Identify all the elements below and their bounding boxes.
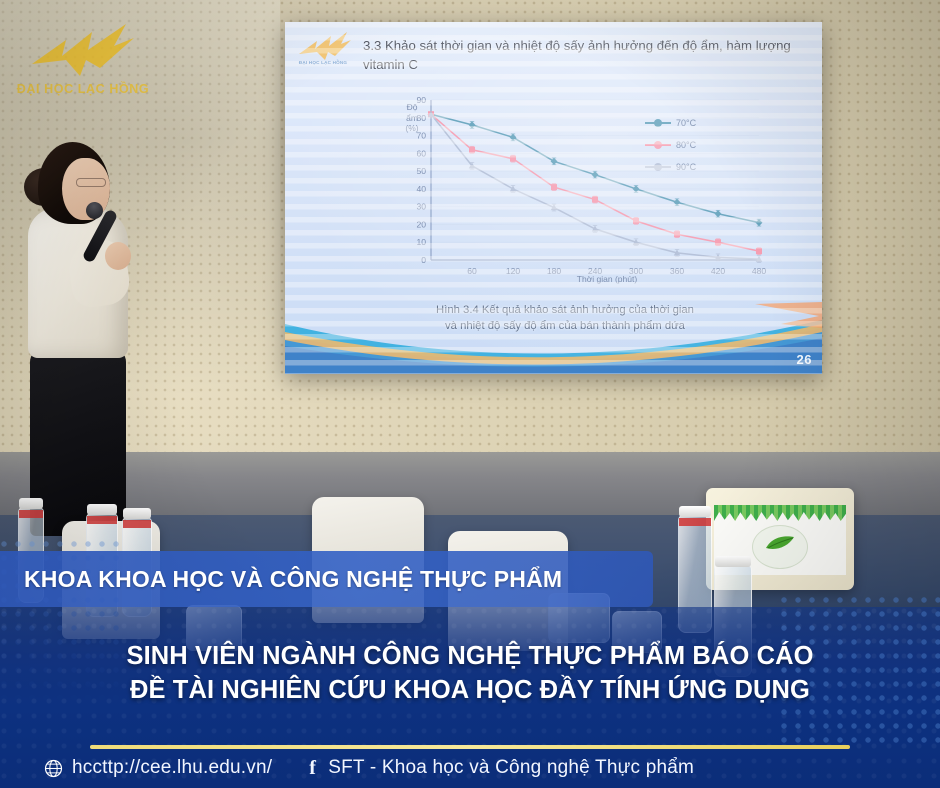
- svg-text:420: 420: [711, 266, 726, 276]
- svg-text:0: 0: [421, 255, 426, 265]
- footer-bar: hccttp://cee.lhu.edu.vn/ f SFT - Khoa họ…: [0, 748, 940, 788]
- slide-logo-text: ĐẠI HỌC LẠC HỒNG: [289, 60, 357, 65]
- headline-line-1: SINH VIÊN NGÀNH CÔNG NGHỆ THỰC PHẨM BÁO …: [0, 640, 940, 674]
- slide-title: 3.3 Khảo sát thời gian và nhiệt độ sấy ả…: [363, 36, 803, 74]
- headline: SINH VIÊN NGÀNH CÔNG NGHỆ THỰC PHẨM BÁO …: [0, 640, 940, 707]
- svg-text:40: 40: [416, 184, 426, 194]
- chart-x-axis-label: Thời gian (phút): [507, 274, 707, 284]
- presentation-screen: ĐẠI HỌC LẠC HỒNG 3.3 Khảo sát thời gian …: [285, 22, 822, 374]
- presenter-hand: [105, 242, 131, 270]
- legend-item: 80°C: [645, 134, 755, 156]
- kicker-banner: KHOA KHOA HỌC VÀ CÔNG NGHỆ THỰC PHẨM: [0, 551, 653, 607]
- svg-text:60: 60: [416, 148, 426, 158]
- bird-logo-icon: [22, 20, 142, 82]
- headline-line-2: ĐỀ TÀI NGHIÊN CỨU KHOA HỌC ĐẦY TÍNH ỨNG …: [0, 674, 940, 708]
- legend-label: 80°C: [676, 140, 696, 150]
- svg-text:30: 30: [416, 202, 426, 212]
- chart-legend: 70°C 80°C 90°C: [645, 112, 755, 178]
- slide-wave-footer: 26: [285, 302, 822, 374]
- svg-text:50: 50: [416, 166, 426, 176]
- svg-text:20: 20: [416, 219, 426, 229]
- svg-text:90: 90: [416, 95, 426, 105]
- legend-swatch-70: [645, 122, 671, 124]
- legend-swatch-90: [645, 166, 671, 168]
- svg-text:480: 480: [752, 266, 767, 276]
- slide-bird-logo-icon: [295, 30, 351, 62]
- facebook-icon: f: [306, 757, 319, 780]
- screenshot-root: ĐẠI HỌC LẠC HỒNG ĐẠI HỌC LẠC HỒNG 3.3 Kh…: [0, 0, 940, 788]
- svg-text:70: 70: [416, 131, 426, 141]
- legend-item: 90°C: [645, 156, 755, 178]
- svg-text:10: 10: [416, 237, 426, 247]
- presenter-glasses: [76, 178, 106, 187]
- facebook-link[interactable]: f SFT - Khoa học và Công nghệ Thực phẩm: [306, 757, 694, 780]
- slide-number: 26: [797, 352, 812, 367]
- legend-label: 70°C: [676, 118, 696, 128]
- wall-logo-text: ĐẠI HỌC LẠC HỒNG: [8, 82, 158, 96]
- kicker-text: KHOA KHOA HỌC VÀ CÔNG NGHỆ THỰC PHẨM: [24, 566, 562, 593]
- moisture-chart: Độ ẩm (%) 010203040506070809060120180240…: [387, 92, 767, 292]
- website-url: hccttp://cee.lhu.edu.vn/: [72, 757, 272, 779]
- svg-text:60: 60: [467, 266, 477, 276]
- poster-green-banner: [714, 505, 846, 521]
- svg-text:80: 80: [416, 113, 426, 123]
- legend-item: 70°C: [645, 112, 755, 134]
- legend-label: 90°C: [676, 162, 696, 172]
- facebook-page-name: SFT - Khoa học và Công nghệ Thực phẩm: [328, 757, 694, 779]
- globe-icon: [44, 759, 63, 778]
- leaf-icon: [764, 535, 796, 551]
- website-link[interactable]: hccttp://cee.lhu.edu.vn/: [44, 757, 272, 779]
- university-wall-logo: ĐẠI HỌC LẠC HỒNG: [8, 18, 158, 113]
- legend-swatch-80: [645, 144, 671, 146]
